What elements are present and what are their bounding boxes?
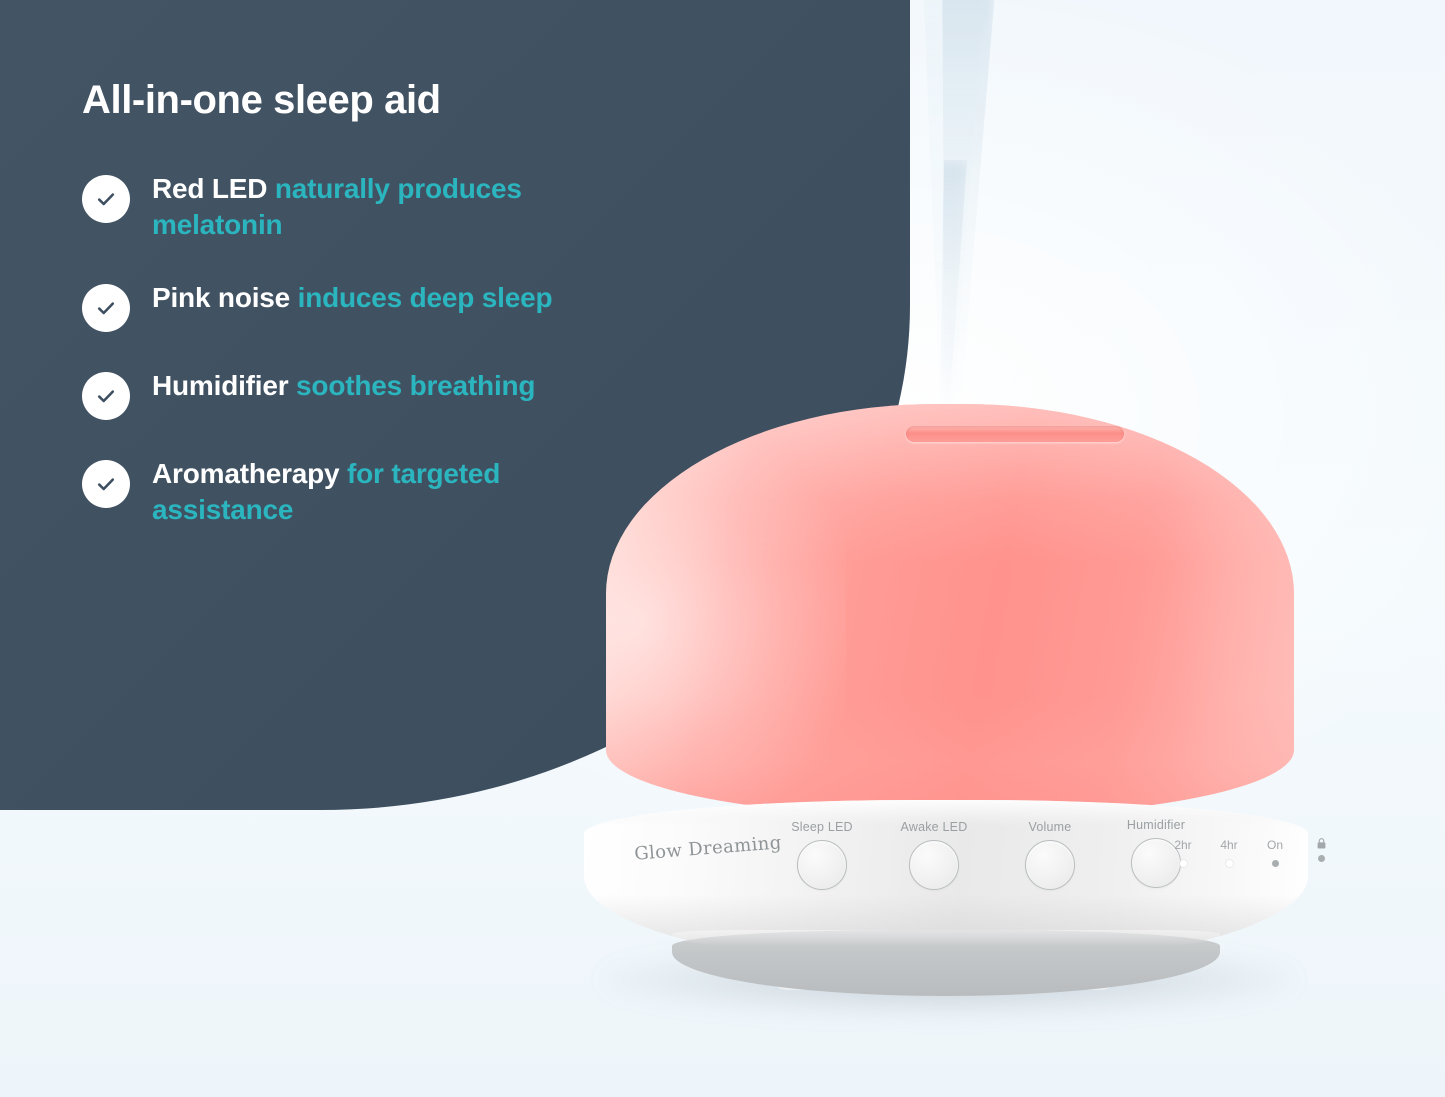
feature-list: Red LED naturally produces melatonin Pin… — [82, 171, 602, 529]
dome-bottom-shade — [606, 696, 1294, 816]
list-item: Humidifier soothes breathing — [82, 368, 602, 420]
feature-text: Aromatherapy for targeted assistance — [152, 456, 602, 529]
feature-content: All-in-one sleep aid Red LED naturally p… — [82, 78, 602, 528]
list-item: Aromatherapy for targeted assistance — [82, 456, 602, 529]
check-icon — [82, 175, 130, 223]
feature-rest: induces deep sleep — [290, 282, 552, 313]
diffuser-device: Glow Dreaming Sleep LED Awake LED Volume… — [576, 404, 1316, 1024]
feature-rest: soothes breathing — [288, 370, 535, 401]
list-item: Pink noise induces deep sleep — [82, 280, 602, 332]
feature-lead: Humidifier — [152, 370, 288, 401]
feature-text: Humidifier soothes breathing — [152, 368, 535, 404]
feature-lead: Red LED — [152, 173, 267, 204]
base-top-highlight — [584, 800, 1308, 826]
check-icon — [82, 372, 130, 420]
product-feature-graphic: Glow Dreaming Sleep LED Awake LED Volume… — [0, 0, 1445, 1097]
feature-text: Red LED naturally produces melatonin — [152, 171, 602, 244]
check-icon — [82, 284, 130, 332]
check-icon — [82, 460, 130, 508]
feature-lead: Pink noise — [152, 282, 290, 313]
mist-vent-slot — [906, 426, 1124, 442]
page-title: All-in-one sleep aid — [82, 78, 602, 123]
list-item: Red LED naturally produces melatonin — [82, 171, 602, 244]
feature-lead: Aromatherapy — [152, 458, 339, 489]
pink-glowing-dome — [606, 404, 1294, 816]
feature-text: Pink noise induces deep sleep — [152, 280, 552, 316]
